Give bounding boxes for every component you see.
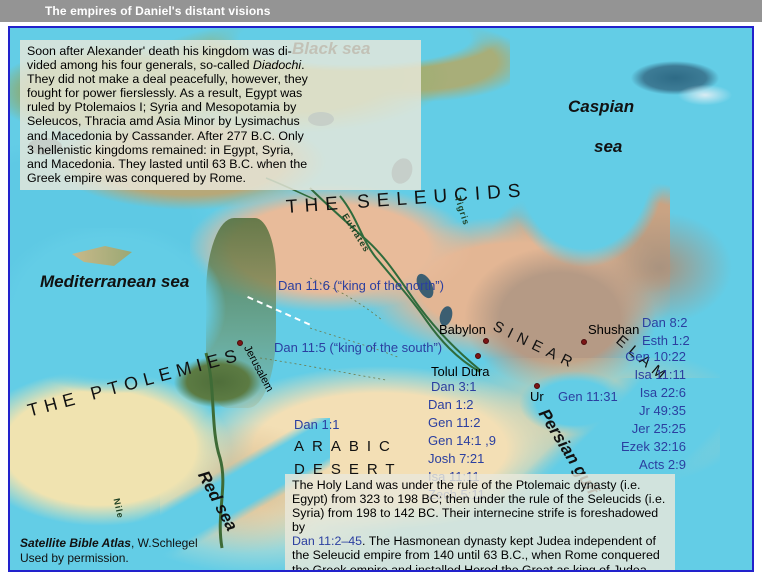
reference-elam-4: Jer 25:25 (632, 422, 686, 435)
reference-elam-1: Isa 11:11 (634, 368, 686, 381)
reference-shushan-1: Esth 1:2 (642, 334, 690, 347)
label-city-shushan: Shushan (588, 323, 639, 336)
reference-babylon-1: Gen 11:2 (428, 416, 481, 429)
note-top-line-0: Soon after Alexander' death his kingdom … (27, 44, 415, 58)
reference-babylon-0: Dan 1:2 (428, 398, 474, 411)
note-top-line-9: Greek empire was conquered by Rome. (27, 171, 415, 185)
credit-atlas-name: Satellite Bible Atlas (20, 536, 131, 550)
reference-shushan-0: Dan 8:2 (642, 316, 688, 329)
annotation-dan-11-5: Dan 11:5 (“king of the south”) (274, 341, 442, 354)
map-canvas[interactable]: Black sea Caspian sea Mediterranean sea … (10, 28, 752, 570)
reference-babylon-3: Josh 7:21 (428, 452, 484, 465)
label-caspian-sea-line1: Caspian (568, 98, 634, 115)
window-titlebar: The empires of Daniel's distant visions (0, 0, 762, 22)
note-top-line-4: ruled by Ptolemaios I; Syria and Mesopot… (27, 100, 415, 114)
city-marker-jerusalem (237, 340, 243, 346)
reference-jerusalem: Dan 1:1 (294, 418, 340, 431)
annotation-dan-11-6: Dan 11:6 (“king of the north”) (278, 279, 444, 292)
credit-author: , W.Schlegel (131, 536, 198, 550)
note-top-line-1: vided among his four generals, so-called… (27, 58, 415, 72)
note-top-line-8: and Macedonia. They lasted until 63 B.C.… (27, 157, 415, 171)
note-bottom-line-3: Dan 11:2–45. The Hasmonean dynasty kept … (292, 534, 669, 548)
reference-tolul-dura: Dan 3:1 (431, 380, 477, 393)
label-city-babylon: Babylon (439, 323, 486, 336)
label-mediterranean-sea: Mediterranean sea (40, 273, 189, 290)
note-top-italic-diadochi: Diadochi (253, 58, 301, 72)
note-bottom-reference: Dan 11:2–45 (292, 534, 362, 548)
city-marker-babylon-secondary (475, 353, 481, 359)
note-top-line-6: and Macedonia by Cassander. After 277 B.… (27, 129, 415, 143)
city-marker-shushan (581, 339, 587, 345)
note-bottom-line-0: The Holy Land was under the rule of the … (292, 478, 669, 492)
credit-line-1: Satellite Bible Atlas, W.Schlegel (20, 536, 198, 551)
label-city-tolul-dura: Tolul Dura (431, 365, 490, 378)
note-bottom-line-5: the Greek empire and installed Herod the… (292, 563, 669, 570)
wadi-2 (260, 358, 386, 380)
map-viewer-window: The empires of Daniel's distant visions (0, 0, 762, 580)
note-box-top: Soon after Alexander' death his kingdom … (20, 40, 421, 190)
note-bottom-line-1: Egypt) from 323 to 198 BC; then under th… (292, 492, 669, 506)
note-top-line-5: Seleucos, Thracia amd Asia Minor by Lysi… (27, 114, 415, 128)
note-top-line-7: 3 hellenistic kingdoms remained: in Egyp… (27, 143, 415, 157)
label-city-ur: Ur (530, 390, 544, 403)
map-frame[interactable]: Black sea Caspian sea Mediterranean sea … (8, 26, 754, 572)
city-marker-ur (534, 383, 540, 389)
label-region-arabic: ARABIC (294, 439, 398, 454)
reference-elam-2: Isa 22:6 (640, 386, 686, 399)
reference-elam-0: Gen 10:22 (625, 350, 686, 363)
attribution-credit: Satellite Bible Atlas, W.Schlegel Used b… (20, 536, 198, 566)
note-top-line-3: fought for power fierslessly. As a resul… (27, 86, 415, 100)
reference-elam-6: Acts 2:9 (639, 458, 686, 471)
label-caspian-sea-line2: sea (594, 138, 622, 155)
reference-elam-5: Ezek 32:16 (621, 440, 686, 453)
note-bottom-line-4: the Seleucid empire from 140 until 63 B.… (292, 548, 669, 562)
city-marker-babylon (483, 338, 489, 344)
note-top-line-2: They did not make a deal peacefully, how… (27, 72, 415, 86)
credit-line-2: Used by permission. (20, 551, 198, 566)
note-bottom-line-2: Syria) from 198 to 142 BC. Their interne… (292, 506, 669, 534)
reference-ur: Gen 11:31 (558, 390, 618, 403)
page-title: The empires of Daniel's distant visions (45, 4, 270, 18)
reference-babylon-2: Gen 14:1 ,9 (428, 434, 496, 447)
note-box-bottom: The Holy Land was under the rule of the … (285, 474, 675, 570)
reference-elam-3: Jr 49:35 (639, 404, 686, 417)
